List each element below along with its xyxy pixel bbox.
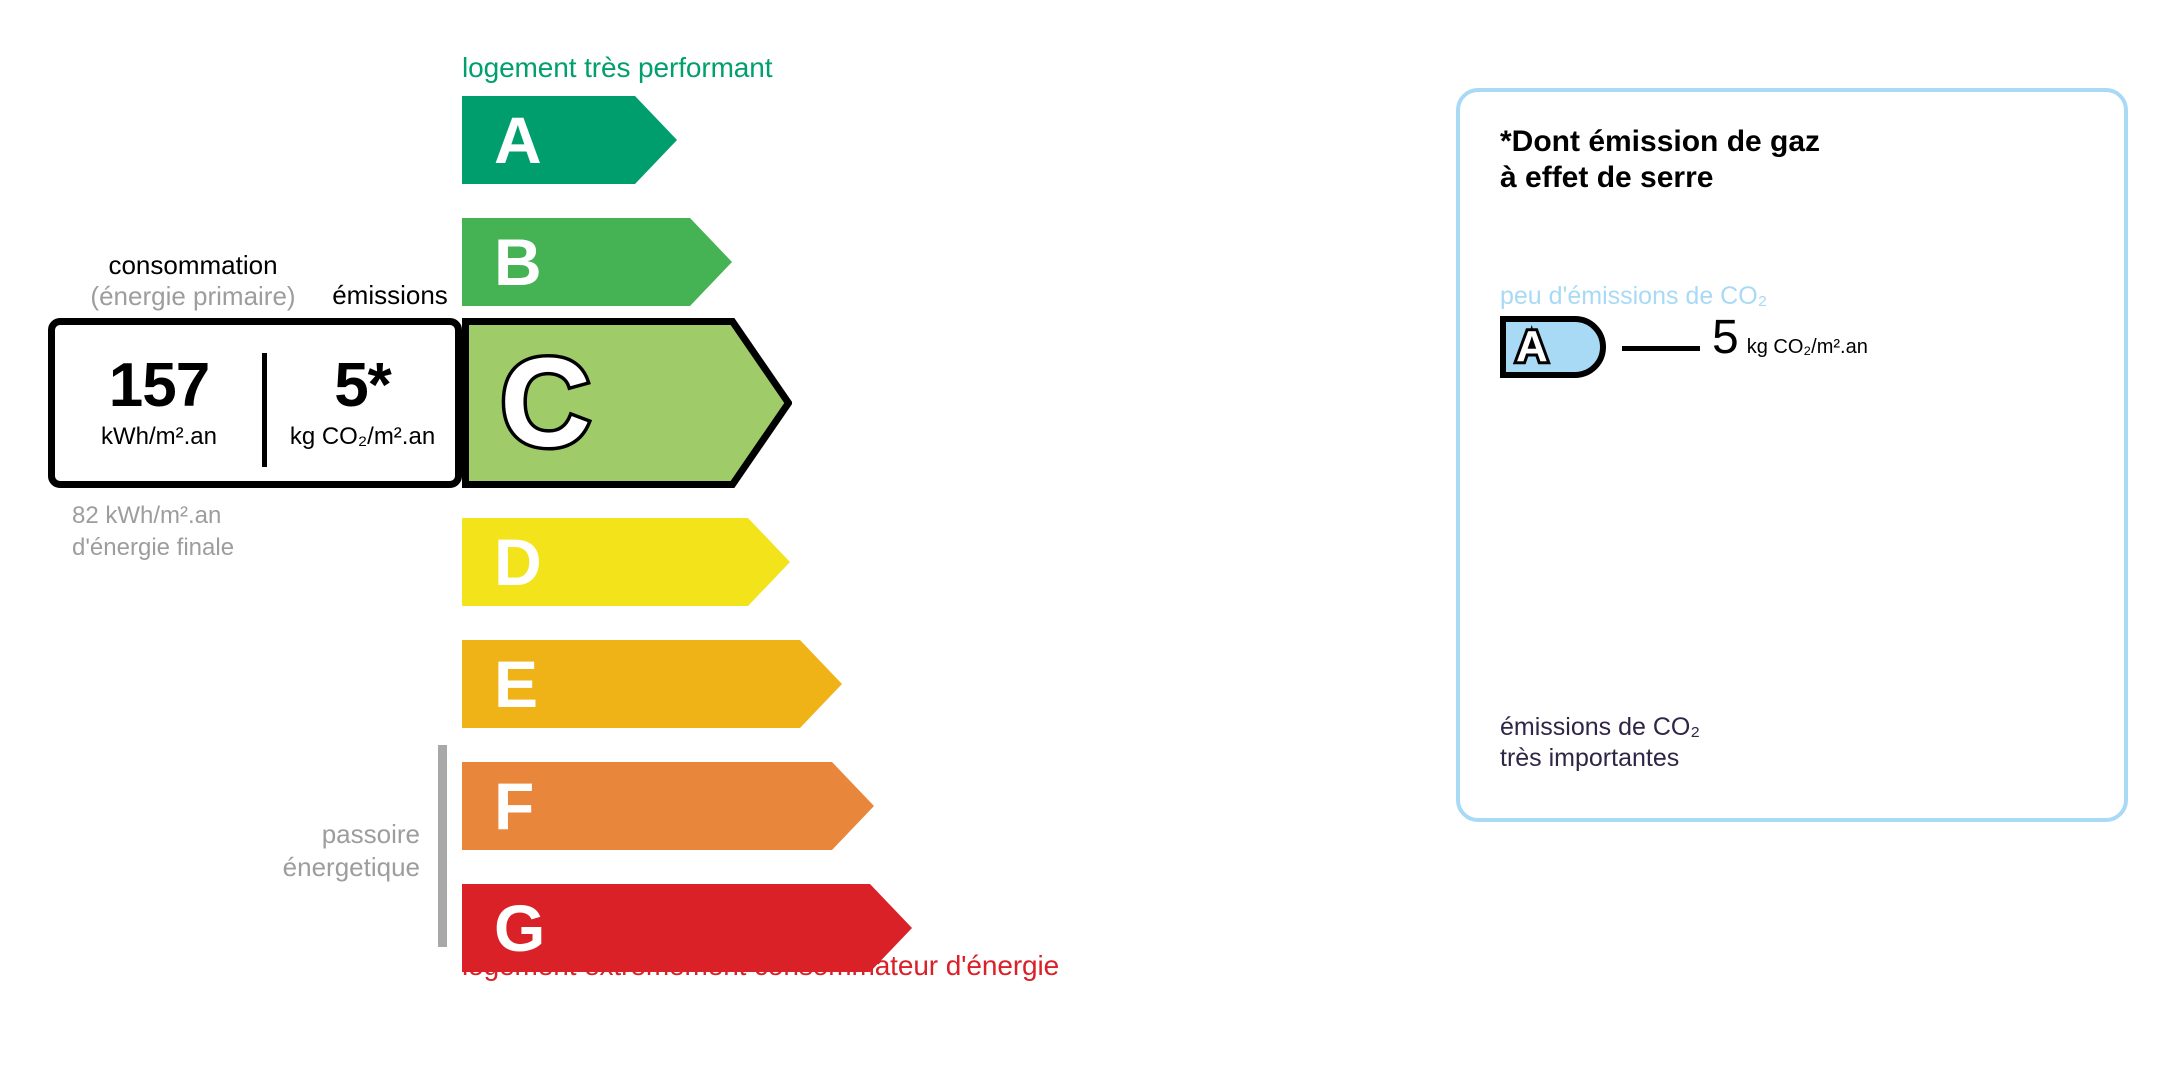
- energy-band-b: B: [462, 218, 732, 306]
- energy-band-e: E: [462, 640, 842, 728]
- co2-selected-letter: A: [1516, 325, 1548, 369]
- emissions-header: émissions: [300, 280, 480, 311]
- emission-value: 5*: [334, 355, 391, 417]
- co2-bottom-caption: émissions de CO₂très importantes: [1500, 712, 1700, 773]
- energy-bottom-caption: logement extrêmement consommateur d'éner…: [462, 950, 1059, 982]
- consumption-header: consommation (énergie primaire): [70, 250, 316, 312]
- energy-band-letter-e: E: [494, 651, 538, 717]
- co2-bar-b: B: [1500, 388, 1622, 432]
- energy-band-letter-b: B: [494, 229, 542, 295]
- passoire-label: passoireénergetique: [230, 818, 420, 883]
- energy-band-d: D: [462, 518, 790, 606]
- co2-bar-letter-f: F: [1514, 609, 1535, 643]
- co2-bar-c: C: [1500, 442, 1652, 486]
- energy-band-letter-c: C: [500, 340, 591, 466]
- emission-value-cell: 5* kg CO₂/m².an: [263, 325, 462, 481]
- emission-unit: kg CO₂/m².an: [290, 423, 435, 451]
- co2-bar-letter-c: C: [1514, 447, 1539, 481]
- co2-bar-g: G: [1500, 658, 1772, 702]
- co2-bar-letter-e: E: [1514, 555, 1537, 589]
- co2-leader-line: [1622, 346, 1700, 351]
- co2-selected-badge: A: [1500, 316, 1606, 378]
- energy-top-caption: logement très performant: [462, 52, 772, 84]
- consumption-value-cell: 157 kWh/m².an: [55, 325, 263, 481]
- energy-band-c: C: [462, 318, 792, 488]
- consumption-header-title: consommation: [108, 250, 277, 280]
- co2-bar-letter-b: B: [1514, 393, 1539, 427]
- co2-bar-e: E: [1500, 550, 1712, 594]
- co2-bar-f: F: [1500, 604, 1742, 648]
- consumption-value: 157: [109, 355, 209, 417]
- energy-band-letter-d: D: [494, 529, 542, 595]
- consumption-unit: kWh/m².an: [101, 423, 217, 451]
- value-box: 157 kWh/m².an 5* kg CO₂/m².an: [48, 318, 462, 488]
- co2-value-number: 5: [1712, 314, 1739, 362]
- co2-value-unit: kg CO₂/m².an: [1747, 336, 1868, 359]
- passoire-bracket: [438, 745, 447, 947]
- co2-bar-letter-g: G: [1514, 663, 1540, 697]
- consumption-header-subtitle: (énergie primaire): [70, 281, 316, 312]
- co2-bar-letter-d: D: [1514, 501, 1539, 535]
- energy-performance-label: logement très performant consommation (é…: [0, 0, 1330, 1079]
- co2-panel-title: *Dont émission de gazà effet de serre: [1500, 124, 1820, 196]
- energy-band-letter-a: A: [494, 107, 542, 173]
- energy-band-a: A: [462, 96, 677, 184]
- energy-band-letter-f: F: [494, 773, 534, 839]
- co2-bar-d: D: [1500, 496, 1682, 540]
- energy-band-f: F: [462, 762, 874, 850]
- co2-top-caption: peu d'émissions de CO₂: [1500, 282, 1767, 311]
- co2-value-group: 5 kg CO₂/m².an: [1712, 314, 1868, 362]
- dpe-diagram: logement très performant consommation (é…: [0, 0, 2169, 1079]
- final-energy-note: 82 kWh/m².and'énergie finale: [72, 500, 234, 564]
- co2-emissions-panel: *Dont émission de gazà effet de serre pe…: [1456, 88, 2128, 822]
